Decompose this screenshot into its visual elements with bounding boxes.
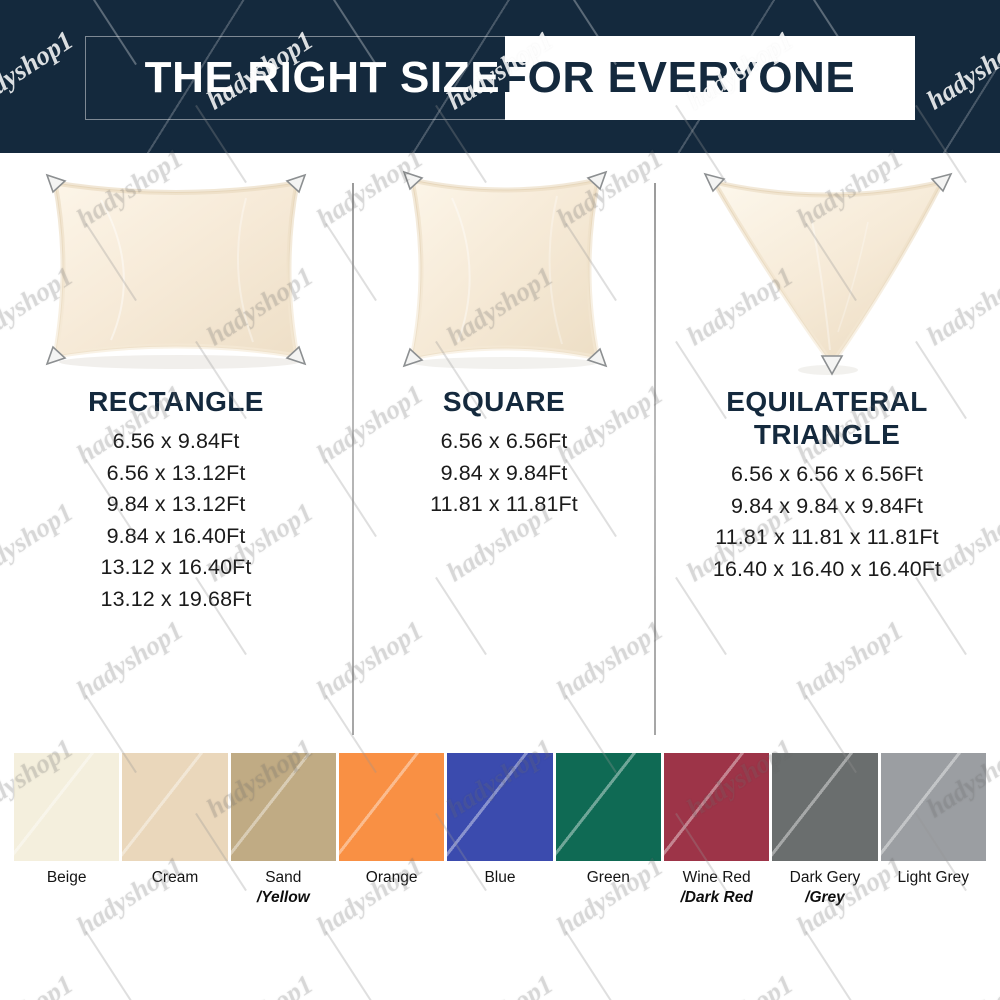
- color-label-orange: Orange: [339, 868, 444, 908]
- column-rectangle: RECTANGLE 6.56 x 9.84Ft 6.56 x 13.12Ft 9…: [8, 160, 344, 616]
- triangle-sail-image: [662, 160, 992, 385]
- color-label-wine-red: Wine Red /Dark Red: [664, 868, 769, 908]
- square-sail-image: [360, 160, 648, 385]
- watermark-text: hadyshop1: [441, 969, 559, 1000]
- color-swatch-cream[interactable]: [122, 753, 227, 861]
- shape-columns: RECTANGLE 6.56 x 9.84Ft 6.56 x 13.12Ft 9…: [0, 160, 1000, 742]
- color-label-dark-grey: Dark Gery /Grey: [772, 868, 877, 908]
- square-size-list: 6.56 x 6.56Ft 9.84 x 9.84Ft 11.81 x 11.8…: [360, 426, 648, 521]
- color-swatch-light-grey[interactable]: [881, 753, 986, 861]
- size-option: 6.56 x 9.84Ft: [8, 426, 344, 458]
- size-option: 6.56 x 13.12Ft: [8, 458, 344, 490]
- color-label-sand: Sand /Yellow: [231, 868, 336, 908]
- size-option: 11.81 x 11.81Ft: [360, 489, 648, 521]
- swatch-watermark: [122, 753, 227, 861]
- color-label-cream: Cream: [122, 868, 227, 908]
- color-name: Light Grey: [881, 868, 986, 888]
- column-title-triangle: EQUILATERAL TRIANGLE: [662, 385, 992, 451]
- size-option: 16.40 x 16.40 x 16.40Ft: [662, 554, 992, 586]
- rectangle-sail-graphic: [31, 160, 321, 385]
- color-swatch-beige[interactable]: [14, 753, 119, 861]
- size-option: 9.84 x 9.84Ft: [360, 458, 648, 490]
- column-title-square: SQUARE: [360, 385, 648, 418]
- swatch-watermark: [339, 753, 444, 861]
- watermark-text: hadyshop1: [921, 969, 1000, 1000]
- color-swatch-green[interactable]: [556, 753, 661, 861]
- color-label-blue: Blue: [447, 868, 552, 908]
- triangle-size-list: 6.56 x 6.56 x 6.56Ft 9.84 x 9.84 x 9.84F…: [662, 459, 992, 585]
- watermark-slash: [565, 931, 617, 1000]
- swatch-watermark: [231, 753, 336, 861]
- watermark-slash: [325, 931, 377, 1000]
- square-sail-graphic: [392, 160, 617, 385]
- swatch-watermark: [447, 753, 552, 861]
- column-title-rectangle: RECTANGLE: [8, 385, 344, 418]
- rectangle-size-list: 6.56 x 9.84Ft 6.56 x 13.12Ft 9.84 x 13.1…: [8, 426, 344, 616]
- watermark-text: hadyshop1: [201, 969, 319, 1000]
- swatch-watermark: [556, 753, 661, 861]
- page-title-part-one: THE RIGHT SIZE: [145, 53, 501, 103]
- size-option: 9.84 x 16.40Ft: [8, 521, 344, 553]
- size-option: 11.81 x 11.81 x 11.81Ft: [662, 522, 992, 554]
- swatch-watermark: [664, 753, 769, 861]
- size-option: 9.84 x 13.12Ft: [8, 489, 344, 521]
- column-divider-1: [352, 183, 354, 735]
- swatch-watermark: [772, 753, 877, 861]
- header-banner: THE RIGHT SIZE FOR EVERYONE: [0, 0, 1000, 153]
- watermark-text: hadyshop1: [681, 969, 799, 1000]
- size-guide-infographic: THE RIGHT SIZE FOR EVERYONE: [0, 0, 1000, 1000]
- color-swatch-strip: [14, 753, 986, 861]
- watermark-text: hadyshop1: [0, 969, 79, 1000]
- size-option: 9.84 x 9.84 x 9.84Ft: [662, 491, 992, 523]
- color-alt-name: /Yellow: [231, 888, 336, 908]
- column-divider-2: [654, 183, 656, 735]
- color-swatch-orange[interactable]: [339, 753, 444, 861]
- color-label-light-grey: Light Grey: [881, 868, 986, 908]
- color-swatch-dark-grey[interactable]: [772, 753, 877, 861]
- swatch-watermark: [881, 753, 986, 861]
- size-option: 13.12 x 16.40Ft: [8, 552, 344, 584]
- page-title: THE RIGHT SIZE FOR EVERYONE: [85, 36, 915, 120]
- color-swatch-blue[interactable]: [447, 753, 552, 861]
- color-name: Orange: [339, 868, 444, 888]
- column-square: SQUARE 6.56 x 6.56Ft 9.84 x 9.84Ft 11.81…: [360, 160, 648, 521]
- color-name: Beige: [14, 868, 119, 888]
- color-alt-name: /Dark Red: [664, 888, 769, 908]
- size-option: 6.56 x 6.56 x 6.56Ft: [662, 459, 992, 491]
- color-swatch-sand[interactable]: [231, 753, 336, 861]
- color-name: Wine Red: [664, 868, 769, 888]
- color-name: Sand: [231, 868, 336, 888]
- color-swatch-wine-red[interactable]: [664, 753, 769, 861]
- column-triangle: EQUILATERAL TRIANGLE 6.56 x 6.56 x 6.56F…: [662, 160, 992, 585]
- column-title-triangle-line2: TRIANGLE: [754, 419, 900, 450]
- color-name: Green: [556, 868, 661, 888]
- color-name: Blue: [447, 868, 552, 888]
- size-option: 6.56 x 6.56Ft: [360, 426, 648, 458]
- color-label-beige: Beige: [14, 868, 119, 908]
- watermark-slash: [805, 931, 857, 1000]
- color-name: Cream: [122, 868, 227, 888]
- color-label-green: Green: [556, 868, 661, 908]
- color-name: Dark Gery: [772, 868, 877, 888]
- color-label-row: Beige Cream Sand /Yellow Orange Blue Gre…: [14, 868, 986, 908]
- triangle-sail-graphic: [692, 160, 962, 385]
- watermark-slash: [85, 931, 137, 1000]
- column-title-triangle-line1: EQUILATERAL: [726, 386, 927, 417]
- size-option: 13.12 x 19.68Ft: [8, 584, 344, 616]
- color-alt-name: /Grey: [772, 888, 877, 908]
- rectangle-sail-image: [8, 160, 344, 385]
- page-title-part-two: FOR EVERYONE: [500, 53, 855, 103]
- swatch-watermark: [14, 753, 119, 861]
